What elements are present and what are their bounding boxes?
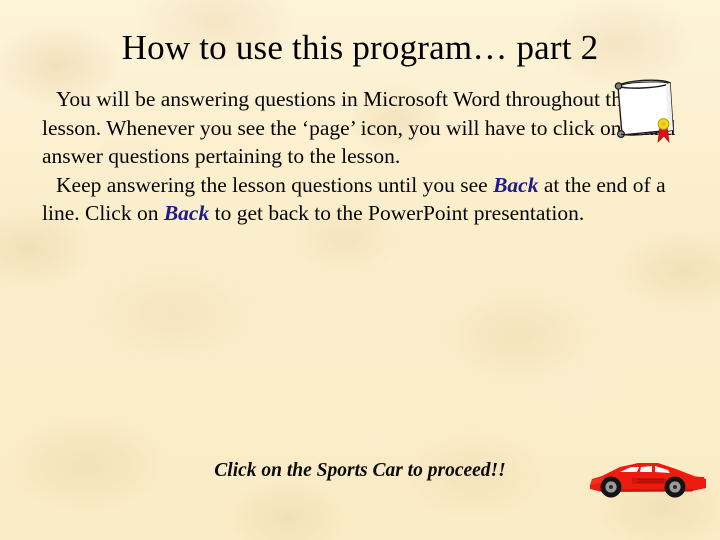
paragraph-instructions-back: Keep answering the lesson questions unti…: [42, 171, 678, 228]
scroll-curl-top-left: [615, 83, 621, 89]
scroll-seal-center: [661, 122, 665, 126]
back-link-1[interactable]: Back: [493, 173, 538, 197]
paragraph2-text-a: Keep answering the lesson questions unti…: [56, 173, 493, 197]
paragraph-instructions-word: You will be answering questions in Micro…: [42, 85, 678, 171]
car-wheel-rear-hub: [673, 485, 677, 489]
paragraph1-text: You will be answering questions in Micro…: [42, 87, 675, 168]
sports-car-button[interactable]: [582, 452, 710, 506]
paragraph2-text-c: to get back to the PowerPoint presentati…: [209, 201, 584, 225]
car-side-shading: [632, 478, 668, 484]
car-strake-1: [638, 479, 664, 480]
page-scroll-icon[interactable]: [608, 78, 684, 148]
back-link-2[interactable]: Back: [164, 201, 209, 225]
car-wheel-front-hub: [609, 485, 613, 489]
cta-label: Click on the Sports Car to proceed!!: [150, 460, 570, 482]
page-title: How to use this program… part 2: [0, 26, 720, 70]
car-strake-2: [638, 481, 664, 482]
body-text-block: You will be answering questions in Micro…: [42, 85, 678, 228]
slide-canvas: How to use this program… part 2 You will…: [0, 0, 720, 540]
